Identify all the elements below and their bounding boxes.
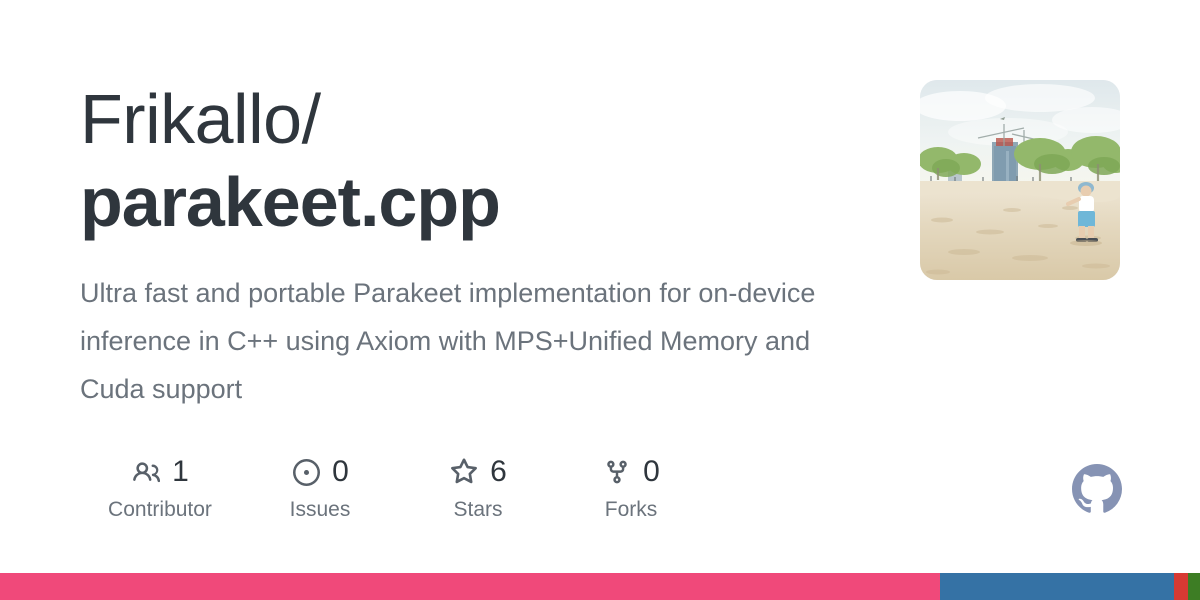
repo-owner-name: Frikallo/ xyxy=(80,78,880,161)
star-icon xyxy=(449,457,479,487)
github-octocat-icon xyxy=(1072,464,1122,514)
issue-opened-icon xyxy=(291,457,321,487)
language-segment-green xyxy=(1188,573,1200,600)
stat-forks-value: 0 xyxy=(643,457,660,487)
language-segment-blue xyxy=(940,573,1174,600)
page-title: Frikallo/ parakeet.cpp xyxy=(80,78,880,243)
repo-description: Ultra fast and portable Parakeet impleme… xyxy=(80,269,870,413)
stat-issues: 0 Issues xyxy=(240,452,400,520)
stat-contributors: 1 Contributor xyxy=(80,452,240,520)
stat-issues-top: 0 xyxy=(291,452,349,492)
language-segment-pink xyxy=(0,573,940,600)
stat-stars-label: Stars xyxy=(453,499,502,520)
repo-thumbnail-image xyxy=(920,80,1120,280)
repo-name: parakeet.cpp xyxy=(80,161,880,244)
stat-issues-label: Issues xyxy=(290,499,351,520)
repo-info-column: Frikallo/ parakeet.cpp Ultra fast and po… xyxy=(80,78,880,413)
stat-stars-value: 6 xyxy=(490,457,507,487)
language-segment-red xyxy=(1174,573,1188,600)
repo-stats: 1 Contributor 0 Issues xyxy=(80,452,706,520)
people-icon xyxy=(131,457,161,487)
stat-issues-value: 0 xyxy=(332,457,349,487)
stat-stars-top: 6 xyxy=(449,452,507,492)
stat-forks-top: 0 xyxy=(602,452,660,492)
stat-contributors-value: 1 xyxy=(172,457,189,487)
language-bar xyxy=(0,573,1200,600)
stat-contributors-label: Contributor xyxy=(108,499,212,520)
repo-social-preview-card: Frikallo/ parakeet.cpp Ultra fast and po… xyxy=(0,0,1200,600)
fork-icon xyxy=(602,457,632,487)
stat-forks: 0 Forks xyxy=(556,452,706,520)
stat-contributors-top: 1 xyxy=(131,452,189,492)
stat-forks-label: Forks xyxy=(605,499,658,520)
stat-stars: 6 Stars xyxy=(400,452,556,520)
